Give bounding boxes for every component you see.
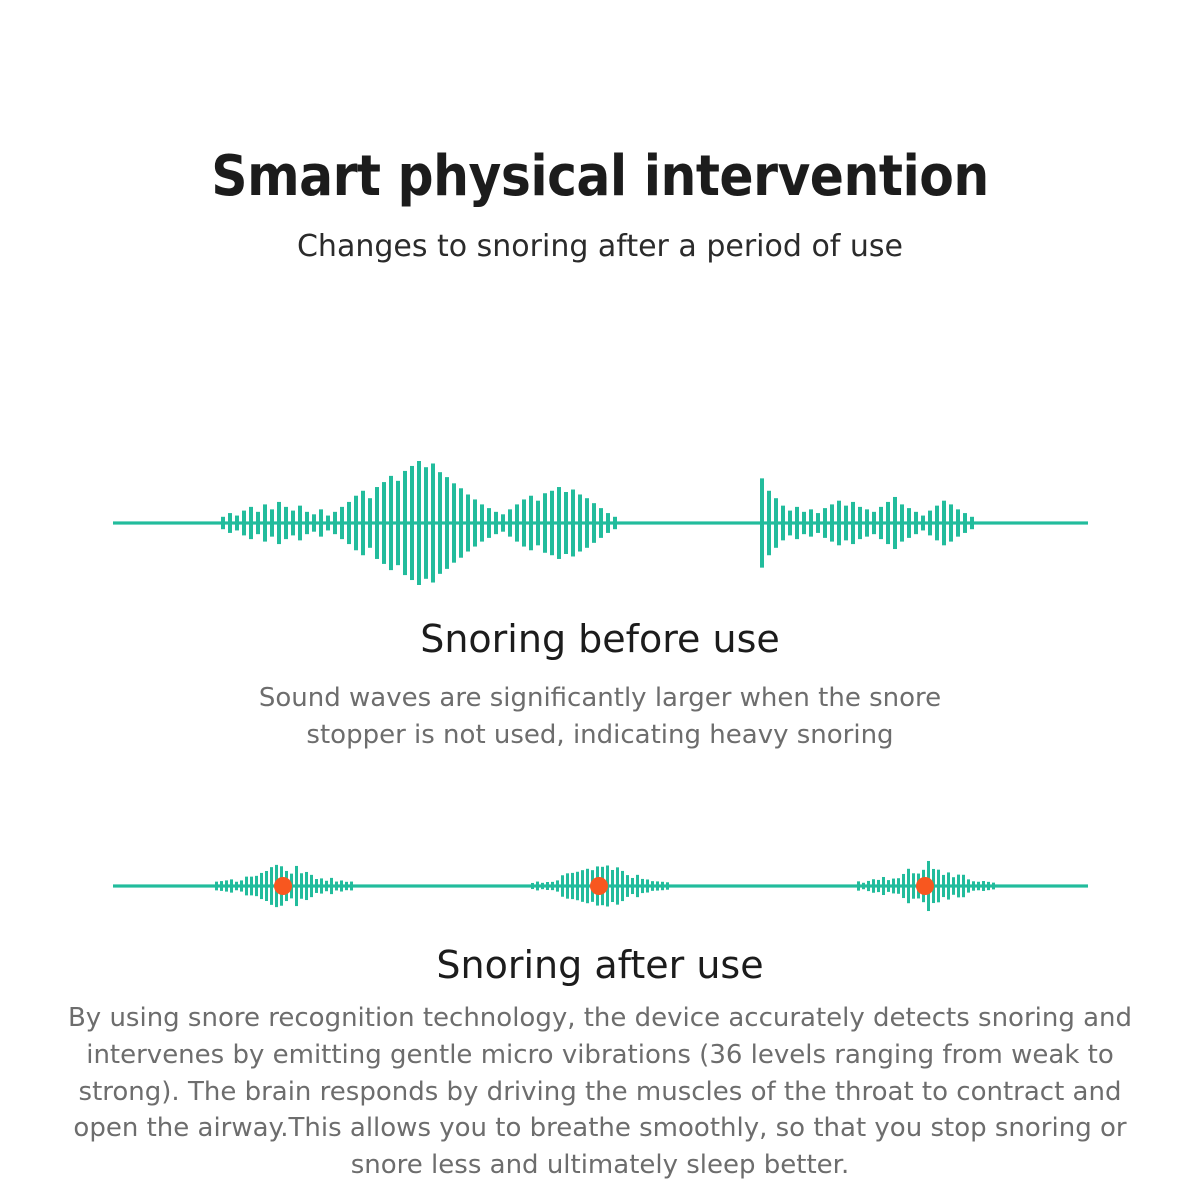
waveform-bar <box>298 506 302 541</box>
waveform-bar <box>802 512 806 534</box>
waveform-bar <box>585 498 589 548</box>
waveform-bar <box>529 496 533 551</box>
waveform-bar <box>578 494 582 551</box>
waveform-bar <box>972 881 975 890</box>
waveform-bar <box>546 882 549 890</box>
waveform-bar <box>830 504 834 541</box>
waveform-bar <box>326 516 330 531</box>
waveform-bar <box>375 487 379 559</box>
waveform-bar <box>424 467 428 579</box>
waveform-bar <box>277 502 281 544</box>
waveform-bar <box>616 867 619 904</box>
waveform-bar <box>928 511 932 536</box>
waveform-bar <box>536 501 540 546</box>
waveform-bar <box>350 882 353 891</box>
waveform-bar <box>857 881 860 890</box>
waveform-bar <box>621 871 624 901</box>
waveform-bar <box>982 881 985 891</box>
waveform-bar <box>942 875 945 897</box>
waveform-bar <box>887 880 890 892</box>
waveform-bar <box>788 511 792 536</box>
waveform-bar <box>265 871 268 901</box>
waveform-before-use-chart <box>0 440 1200 610</box>
waveform-bar <box>240 880 243 891</box>
waveform-bar <box>651 881 654 891</box>
waveform-bar <box>886 502 890 544</box>
waveform-bar <box>501 514 505 531</box>
waveform-bar <box>320 878 323 893</box>
waveform-bar <box>473 499 477 546</box>
waveform-bar <box>774 498 778 548</box>
waveform-bar <box>438 472 442 574</box>
waveform-bar <box>300 873 303 898</box>
waveform-bar <box>480 504 484 541</box>
caption-after-description: By using snore recognition technology, t… <box>65 1000 1135 1185</box>
waveform-bar <box>967 879 970 892</box>
waveform-bar <box>613 517 617 529</box>
waveform-bar <box>636 875 639 897</box>
waveform-bar <box>862 883 865 889</box>
waveform-bar <box>543 493 547 553</box>
caption-before-use: Snoring before use Sound waves are signi… <box>0 618 1200 754</box>
waveform-bar <box>417 461 421 585</box>
waveform-bar <box>215 882 218 891</box>
waveform-bar <box>892 879 895 894</box>
waveform-bar <box>319 509 323 536</box>
caption-before-heading: Snoring before use <box>0 618 1200 662</box>
waveform-bar <box>256 512 260 534</box>
waveform-bar <box>312 514 316 531</box>
waveform-bar <box>431 463 435 582</box>
waveform-bar <box>340 880 343 891</box>
vibration-trigger-marker-icon <box>590 877 608 895</box>
waveform-bar <box>230 879 233 892</box>
page-subtitle: Changes to snoring after a period of use <box>0 229 1200 265</box>
waveform-bar <box>611 870 614 902</box>
waveform-bar <box>345 882 348 890</box>
waveform-bar <box>626 875 629 897</box>
waveform-bar <box>912 873 915 898</box>
waveform-bar <box>631 878 634 894</box>
waveform-bar <box>937 870 940 903</box>
waveform-after-use-chart <box>0 845 1200 929</box>
waveform-bar <box>466 494 470 551</box>
waveform-bar <box>330 878 333 894</box>
waveform-bar <box>914 512 918 534</box>
waveform-bar <box>935 506 939 541</box>
waveform-bar <box>956 509 960 536</box>
waveform-bar <box>403 471 407 575</box>
waveform-bar <box>382 482 386 564</box>
waveform-bar <box>897 878 900 894</box>
waveform-bar <box>291 511 295 536</box>
waveform-bar <box>235 516 239 531</box>
waveform-bar <box>561 875 564 896</box>
waveform-bar <box>459 488 463 557</box>
waveform-bar <box>844 506 848 541</box>
waveform-bar <box>646 879 649 892</box>
waveform-bar <box>947 872 950 899</box>
waveform-bar <box>250 877 253 896</box>
waveform-bar <box>445 477 449 569</box>
waveform-bar <box>882 877 885 895</box>
waveform-bar <box>576 872 579 900</box>
waveform-bar <box>242 511 246 536</box>
waveform-bar <box>310 875 313 897</box>
waveform-bar <box>221 517 225 529</box>
waveform-bar <box>550 491 554 555</box>
page-title: Smart physical intervention <box>0 148 1200 207</box>
waveform-bar <box>867 881 870 891</box>
waveform-bar <box>263 504 267 541</box>
caption-before-description: Sound waves are significantly larger whe… <box>250 680 950 754</box>
waveform-bar <box>907 869 910 903</box>
waveform-bar <box>877 880 880 892</box>
waveform-bar <box>564 492 568 554</box>
waveform-bar <box>942 501 946 546</box>
vibration-trigger-marker-icon <box>916 877 934 895</box>
waveform-bar <box>228 513 232 533</box>
waveform-bar <box>235 882 238 891</box>
waveform-bar <box>957 875 960 898</box>
waveform-bar <box>508 509 512 536</box>
waveform-bar <box>872 879 875 893</box>
waveform-bar <box>557 487 561 559</box>
waveform-bar <box>340 507 344 539</box>
waveform-bar <box>260 873 263 899</box>
waveform-bar <box>522 499 526 546</box>
waveform-bar <box>781 506 785 541</box>
waveform-bar <box>487 508 491 538</box>
waveform-bar <box>270 509 274 536</box>
waveform-bar <box>893 497 897 549</box>
waveform-bar <box>816 513 820 533</box>
waveform-bar <box>325 881 328 891</box>
waveform-bar <box>354 496 358 551</box>
waveform-bar <box>666 882 669 889</box>
waveform-bar <box>551 882 554 890</box>
waveform-bar <box>641 879 644 893</box>
waveform-bar <box>347 502 351 544</box>
waveform-bar <box>389 476 393 570</box>
waveform-bar <box>515 504 519 541</box>
waveform-bar <box>571 490 575 557</box>
waveform-bar <box>225 880 228 891</box>
waveform-bar <box>556 880 559 891</box>
waveform-bar <box>592 503 596 543</box>
waveform-bar <box>606 513 610 533</box>
header: Smart physical intervention Changes to s… <box>0 148 1200 265</box>
waveform-bar <box>410 466 414 580</box>
waveform-bar <box>823 508 827 538</box>
waveform-bar <box>962 875 965 897</box>
waveform-bar <box>571 873 574 899</box>
waveform-bar <box>531 883 534 889</box>
waveform-bar <box>795 507 799 539</box>
waveform-bar <box>760 478 764 567</box>
waveform-bar <box>305 512 309 534</box>
waveform-bar <box>270 867 273 905</box>
waveform-bar <box>333 512 337 534</box>
waveform-before-use <box>0 440 1200 610</box>
waveform-bar <box>599 508 603 538</box>
waveform-bar <box>949 504 953 541</box>
caption-after-use: Snoring after use By using snore recogni… <box>0 944 1200 1184</box>
waveform-bar <box>858 507 862 539</box>
waveform-bar <box>494 512 498 534</box>
waveform-bar <box>963 513 967 533</box>
waveform-bar <box>295 866 298 906</box>
waveform-bar <box>661 882 664 890</box>
promo-page: Smart physical intervention Changes to s… <box>0 0 1200 1200</box>
waveform-bar <box>541 883 544 889</box>
waveform-bar <box>335 882 338 891</box>
waveform-bar <box>879 507 883 539</box>
waveform-bar <box>987 882 990 890</box>
waveform-bar <box>586 869 589 903</box>
waveform-bar <box>809 509 813 536</box>
waveform-bar <box>921 516 925 531</box>
waveform-bar <box>315 879 318 893</box>
waveform-bar <box>902 874 905 898</box>
waveform-bar <box>566 873 569 898</box>
waveform-bar <box>767 491 771 555</box>
waveform-bar <box>977 882 980 891</box>
waveform-bar <box>368 498 372 548</box>
caption-after-heading: Snoring after use <box>0 944 1200 988</box>
waveform-bar <box>851 502 855 544</box>
waveform-bar <box>656 881 659 890</box>
waveform-bar <box>837 501 841 546</box>
waveform-bar <box>865 509 869 536</box>
waveform-bar <box>249 507 253 539</box>
waveform-bar <box>245 877 248 896</box>
waveform-bar <box>907 508 911 538</box>
waveform-bar <box>952 877 955 895</box>
waveform-bar <box>992 883 995 890</box>
waveform-bar <box>255 876 258 896</box>
vibration-trigger-marker-icon <box>274 877 292 895</box>
waveform-bar <box>305 872 308 900</box>
waveform-bar <box>900 504 904 541</box>
waveform-bar <box>872 512 876 534</box>
waveform-bar <box>396 481 400 565</box>
waveform-bar <box>581 870 584 902</box>
waveform-bar <box>361 491 365 555</box>
waveform-bar <box>536 882 539 891</box>
waveform-after-use <box>0 845 1200 929</box>
waveform-bar <box>452 483 456 562</box>
waveform-bar <box>284 507 288 539</box>
waveform-bar <box>970 517 974 529</box>
waveform-bar <box>220 881 223 891</box>
